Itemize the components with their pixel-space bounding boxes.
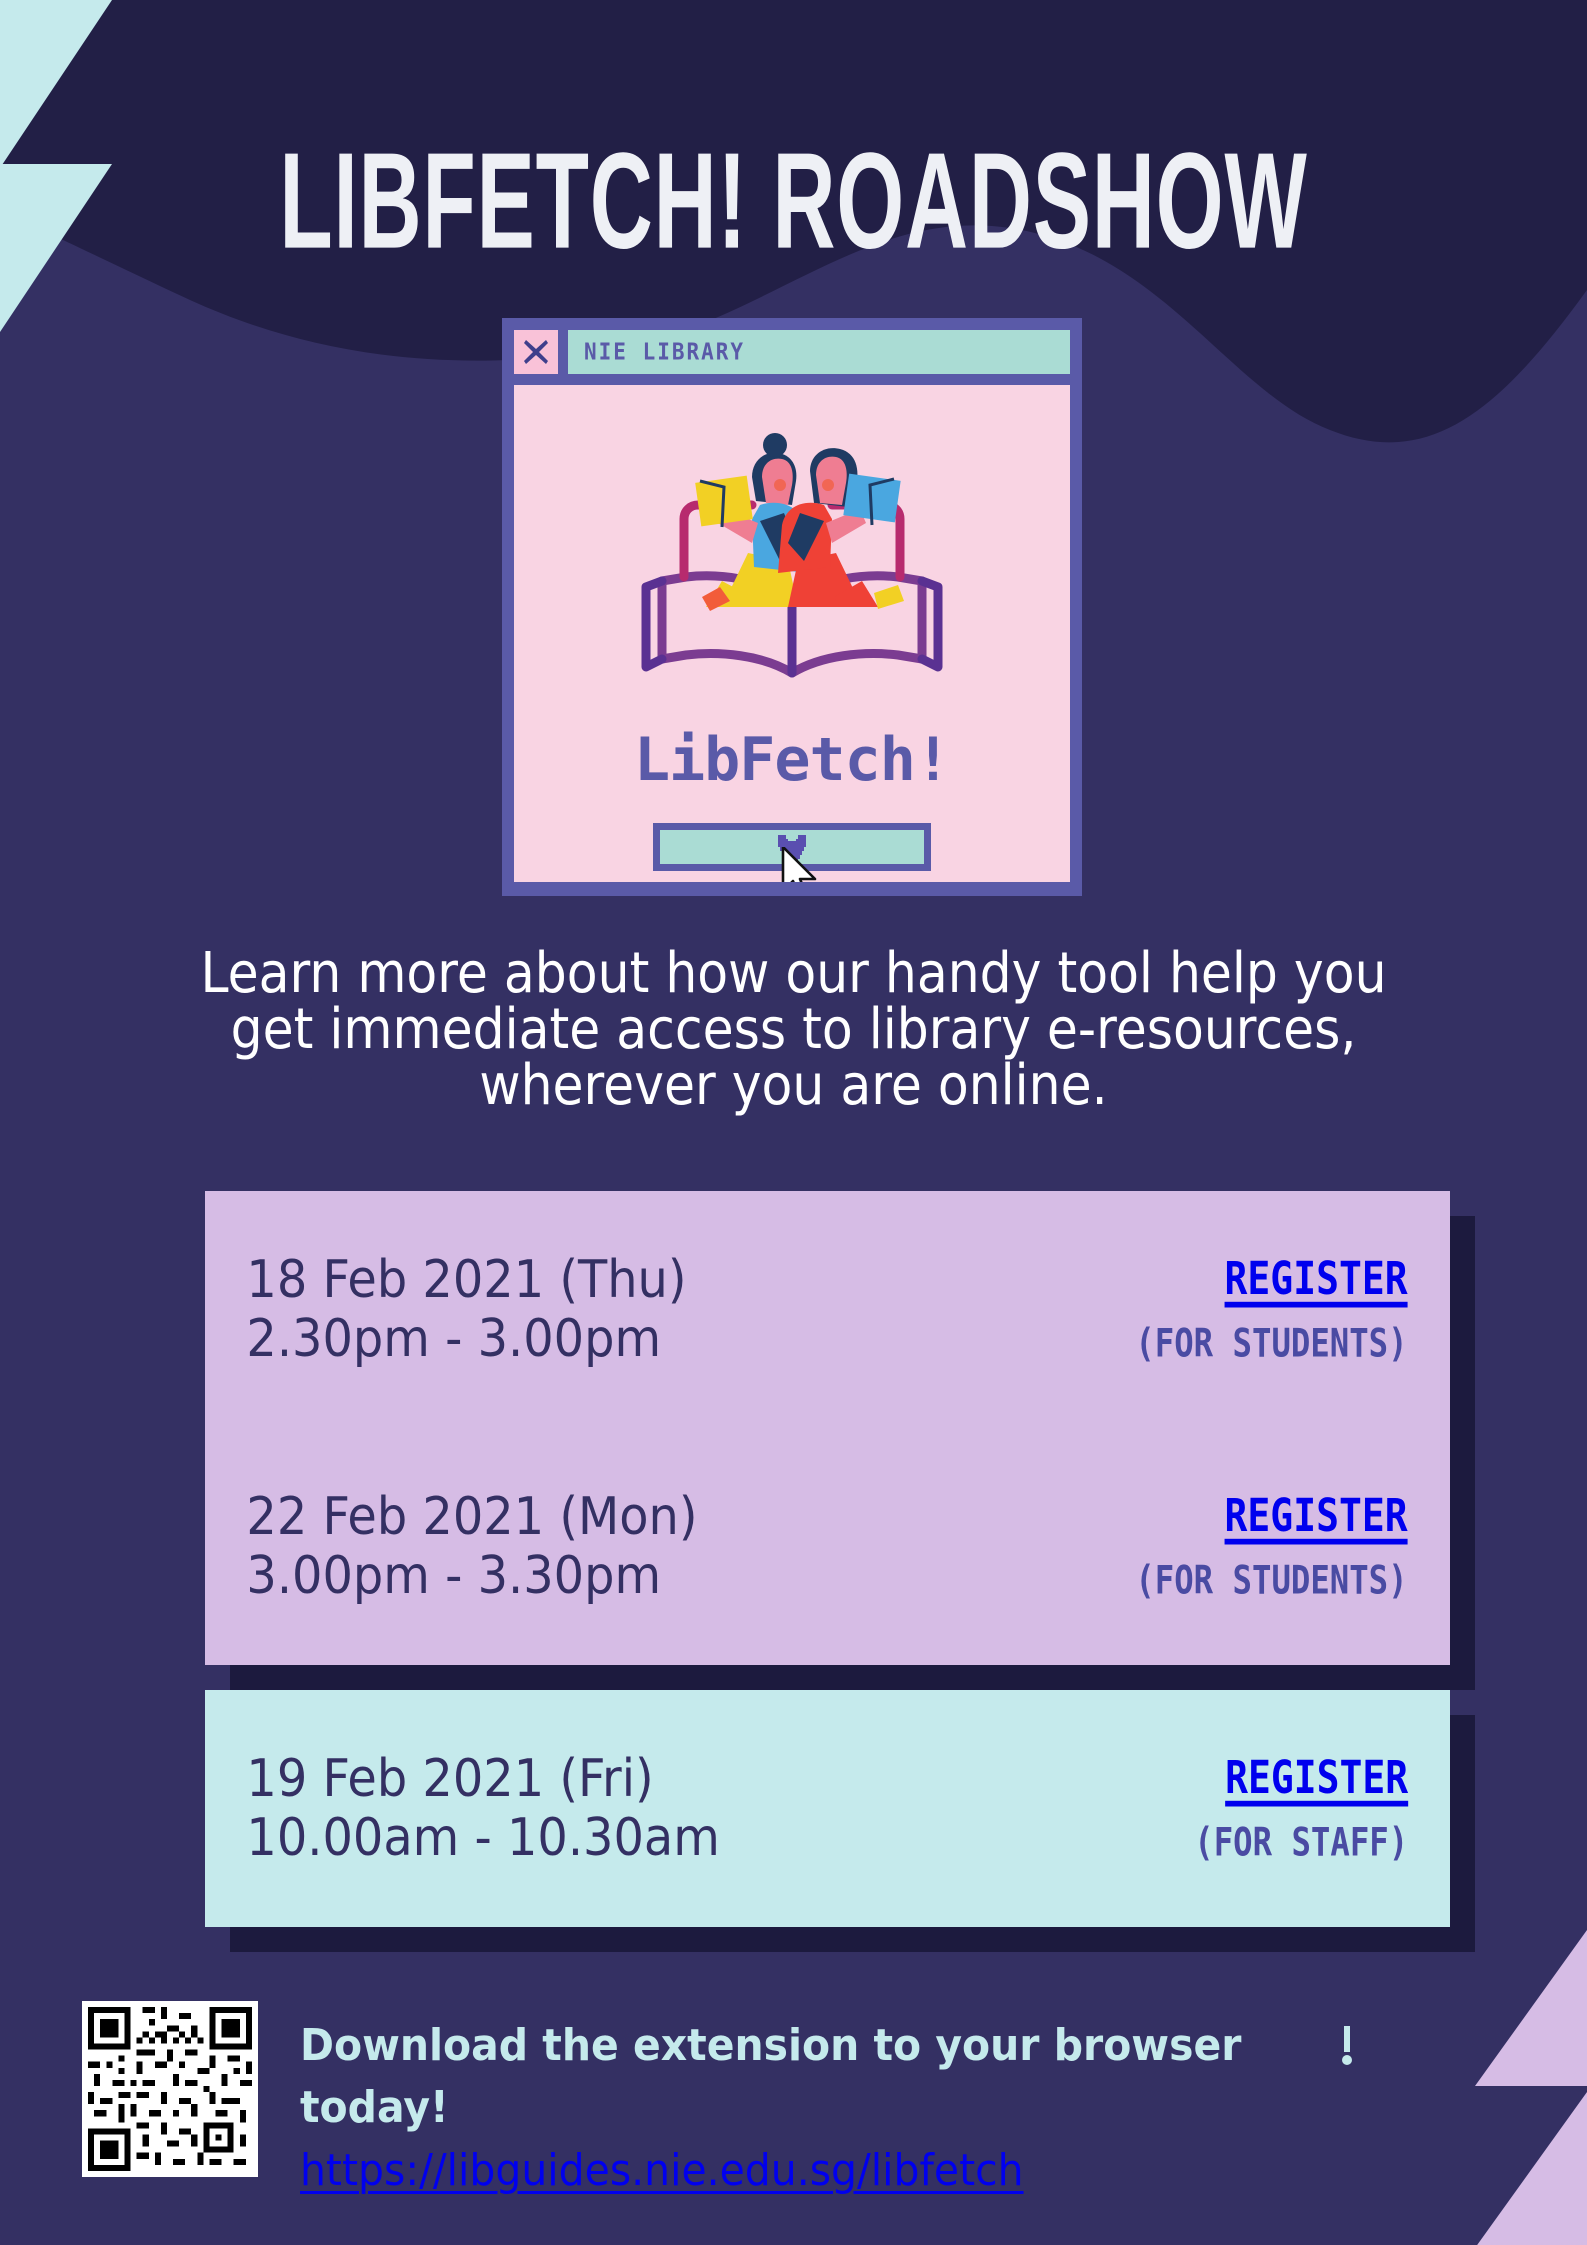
decoration-triangle-top-1 [0,0,112,168]
libfetch-url-link[interactable]: https://libguides.nie.edu.sg/libfetch [300,2140,1024,2202]
footer-text: Download the extension to your browser t… [300,2015,1370,2202]
schedule-card-2: 22 Feb 2021 (Mon) 3.00pm - 3.30pm REGIST… [205,1428,1450,1665]
schedule-card-3: 19 Feb 2021 (Fri) 10.00am - 10.30am REGI… [205,1690,1450,1927]
schedule-card-3-register: REGISTER (FOR STAFF) [1183,1755,1450,1863]
schedule-card-1-datetime: 18 Feb 2021 (Thu) 2.30pm - 3.00pm [205,1251,1048,1367]
window-titlebar: NIE LIBRARY [514,330,1070,374]
schedule-card-1-register: REGISTER (FOR STUDENTS) [1121,1256,1450,1364]
schedule-card-1-date: 18 Feb 2021 (Thu) [246,1251,1048,1309]
two-people-reading-on-open-book-illustration [602,401,982,701]
page-title: LIBFETCH! ROADSHOW [175,133,1413,270]
schedule-card-1: 18 Feb 2021 (Thu) 2.30pm - 3.00pm REGIST… [205,1191,1450,1428]
audience-label-3: (FOR STAFF) [1194,1820,1408,1866]
schedule-card-2-date: 22 Feb 2021 (Mon) [246,1488,1048,1546]
register-link-1[interactable]: REGISTER [1136,1252,1408,1304]
register-link-2[interactable]: REGISTER [1136,1489,1408,1541]
schedule-card-1-time: 2.30pm - 3.00pm [246,1310,1048,1368]
footer-cta: Download the extension to your browser t… [300,2015,1370,2140]
description-line-1: Learn more about how our handy tool help… [79,946,1507,1002]
schedule-card-2-register: REGISTER (FOR STUDENTS) [1121,1493,1450,1601]
libfetch-window: NIE LIBRARY [502,318,1082,896]
schedule-card-3-datetime: 19 Feb 2021 (Fri) 10.00am - 10.30am [205,1750,1105,1866]
decoration-triangle-bottom-2 [1475,2092,1587,2245]
mouse-pointer-icon [781,847,825,882]
description-line-2: get immediate access to library e-resour… [79,1002,1507,1058]
audience-label-2: (FOR STUDENTS) [1136,1558,1408,1604]
schedule-card-2-time: 3.00pm - 3.30pm [246,1547,1048,1605]
schedule-card-3-date: 19 Feb 2021 (Fri) [246,1750,1104,1808]
register-link-3[interactable]: REGISTER [1194,1751,1408,1803]
libfetch-logo-text: LibFetch! [514,725,1070,795]
decoration-triangle-bottom-1 [1475,1930,1587,2086]
description-text: Learn more about how our handy tool help… [79,946,1507,1114]
description-line-3: wherever you are online. [79,1058,1507,1114]
audience-label-1: (FOR STUDENTS) [1136,1321,1408,1367]
schedule-card-2-datetime: 22 Feb 2021 (Mon) 3.00pm - 3.30pm [205,1488,1048,1604]
window-body: LibFetch! [514,385,1070,882]
decoration-triangle-top-2 [0,164,112,332]
schedule-card-3-time: 10.00am - 10.30am [246,1809,1104,1867]
close-x-icon[interactable] [514,330,558,374]
window-title-bar-label: NIE LIBRARY [568,330,1070,374]
qr-code[interactable] [82,2001,258,2177]
window-title-text: NIE LIBRARY [584,339,745,365]
poster-canvas: LIBFETCH! ROADSHOW NIE LIBRARY [0,0,1587,2245]
